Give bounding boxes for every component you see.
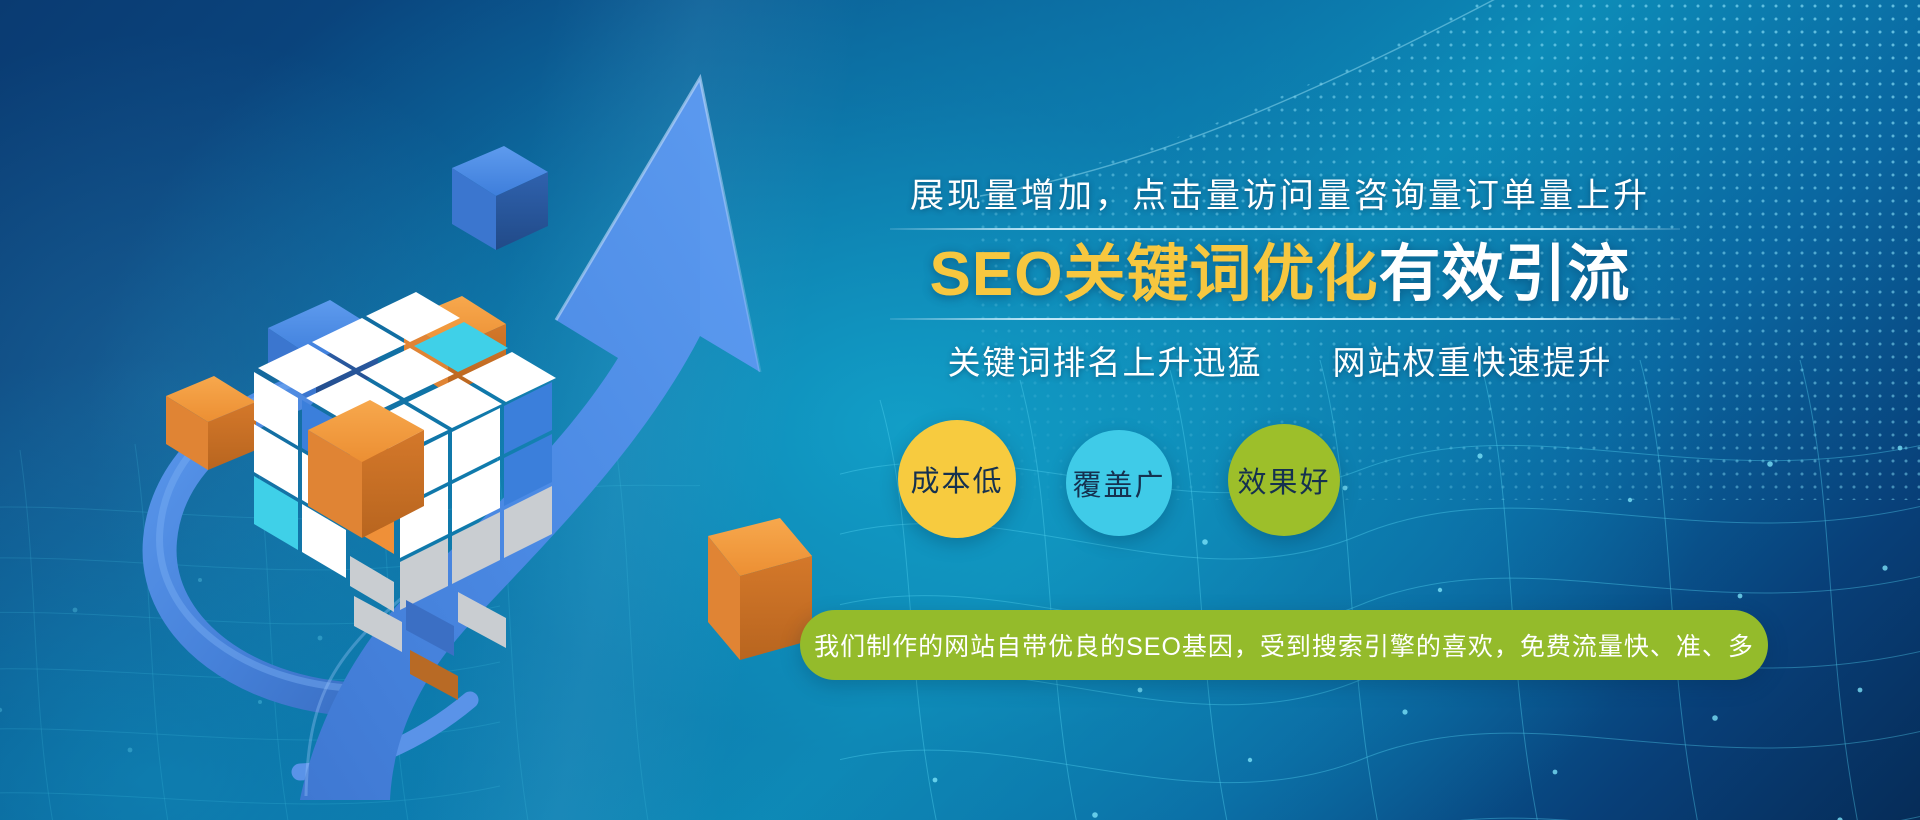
page-title: SEO关键词优化有效引流 [880,236,1680,314]
feature-badge-coverage[interactable]: 覆盖广 [1066,430,1172,536]
floating-orange-cube-icon [708,518,812,660]
feature-badge-effect-label: 效果好 [1237,459,1330,501]
seo-promo-banner: 展现量增加，点击量访问量咨询量订单量上升 SEO关键词优化有效引流 关键词排名上… [0,0,1920,820]
divider-top [890,228,1680,230]
tagline-pill: 我们制作的网站自带优良的SEO基因，受到搜索引擎的喜欢，免费流量快、准、多 [800,610,1768,680]
feature-badge-group: 成本低 覆盖广 效果好 [898,416,1598,586]
tagline-pill-text: 我们制作的网站自带优良的SEO基因，受到搜索引擎的喜欢，免费流量快、准、多 [814,627,1754,663]
feature-badge-cost-label: 成本低 [910,458,1003,500]
kicker-text: 展现量增加，点击量访问量咨询量订单量上升 [880,168,1680,217]
headline-rest: 有效引流 [1378,240,1630,309]
banner-copy: 展现量增加，点击量访问量咨询量订单量上升 SEO关键词优化有效引流 关键词排名上… [880,0,1920,820]
floating-blue-cube-icon [452,146,548,250]
headline-highlight: SEO关键词优化 [930,240,1379,309]
divider-bottom [890,318,1680,320]
feature-badge-effect[interactable]: 效果好 [1228,424,1340,536]
feature-badge-coverage-label: 覆盖广 [1072,462,1165,504]
subline-text: 关键词排名上升迅猛 网站权重快速提升 [880,336,1680,384]
growth-arrow-and-cube-illustration [0,0,880,820]
feature-badge-cost[interactable]: 成本低 [898,420,1016,538]
